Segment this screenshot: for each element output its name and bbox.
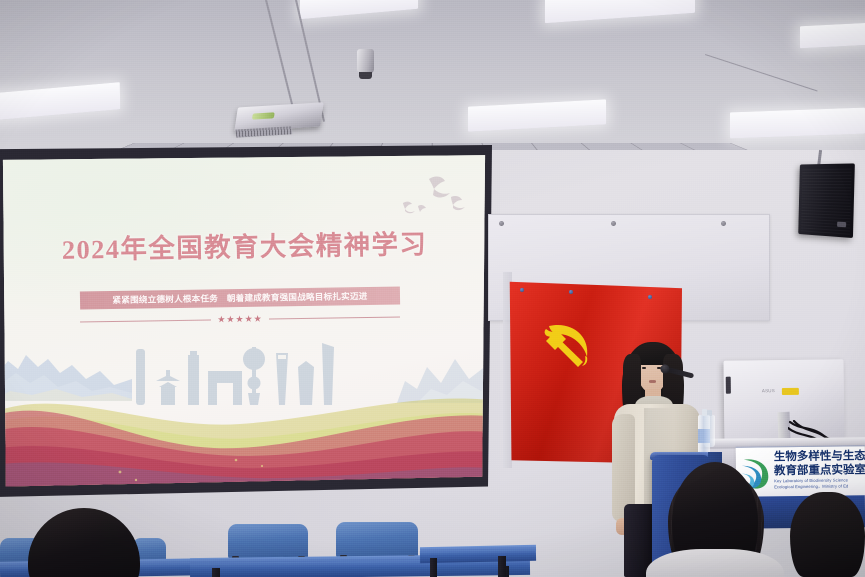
presenter-mouth xyxy=(649,380,656,383)
smoke-detector-icon xyxy=(357,49,374,74)
ceiling-light-panel xyxy=(730,108,865,139)
ceiling-light-panel xyxy=(800,22,865,49)
speaker-badge xyxy=(837,222,846,228)
whiteboard-screw xyxy=(499,221,504,226)
flag-pin xyxy=(648,295,652,299)
monitor-yellow-sticker xyxy=(782,388,799,395)
flag-pin xyxy=(569,290,573,294)
bottle-label xyxy=(698,429,710,443)
desk-leg xyxy=(498,556,506,577)
student-desk xyxy=(420,549,536,563)
wave-ribbon-icon xyxy=(0,352,489,492)
ceiling-conduit xyxy=(705,54,818,92)
chair[interactable] xyxy=(228,524,308,559)
ceiling-light-panel xyxy=(468,99,606,131)
chair[interactable] xyxy=(336,522,418,558)
ceiling-light-panel xyxy=(300,0,418,19)
ceiling-projector xyxy=(234,102,323,132)
wall-mounted-loudspeaker xyxy=(798,163,855,238)
water-bottle[interactable] xyxy=(698,415,710,455)
audience-head xyxy=(790,492,865,577)
lab-name-cn-line2: 教育部重点实验室 xyxy=(774,463,865,478)
slide-subtitle: 紧紧围绕立德树人根本任务 朝着建成教育强国战略目标扎实迈进 xyxy=(112,290,367,306)
dove-icon xyxy=(385,173,467,226)
ceiling-light-panel xyxy=(0,82,120,121)
lab-name-en-line2: Ecological Engineering，Ministry of Ed xyxy=(774,483,865,490)
presenter-eye-left xyxy=(642,367,646,369)
hammer-and-sickle-icon xyxy=(540,315,598,373)
ceiling xyxy=(0,0,865,166)
lab-name-cn-line1: 生物多样性与生态工 xyxy=(774,449,865,464)
monitor-brand-label: ASUS xyxy=(762,388,775,393)
whiteboard-screw xyxy=(721,221,726,226)
slide-title: 2024年全国教育大会精神学习 xyxy=(0,221,489,268)
divider-rule-left xyxy=(80,319,211,322)
desk-leg xyxy=(212,568,220,577)
projector-lens xyxy=(252,112,275,119)
classroom-presentation-photo: 2024年全国教育大会精神学习 紧紧围绕立德树人根本任务 朝着建成教育强国战略目… xyxy=(0,0,865,577)
divider-rule-right xyxy=(269,316,400,319)
star-row: ★★★★★ xyxy=(217,314,263,326)
projection-screen[interactable]: 2024年全国教育大会精神学习 紧紧围绕立德树人根本任务 朝着建成教育强国战略目… xyxy=(0,151,489,492)
projector-vent xyxy=(236,126,293,137)
flag-pin xyxy=(520,288,524,292)
whiteboard-screw xyxy=(611,221,616,226)
desk-leg xyxy=(430,558,437,577)
ceiling-light-panel xyxy=(545,0,695,23)
monitor-ports xyxy=(726,377,731,394)
laboratory-banner-text: 生物多样性与生态工 教育部重点实验室 Key Laboratory of Bio… xyxy=(774,449,865,490)
